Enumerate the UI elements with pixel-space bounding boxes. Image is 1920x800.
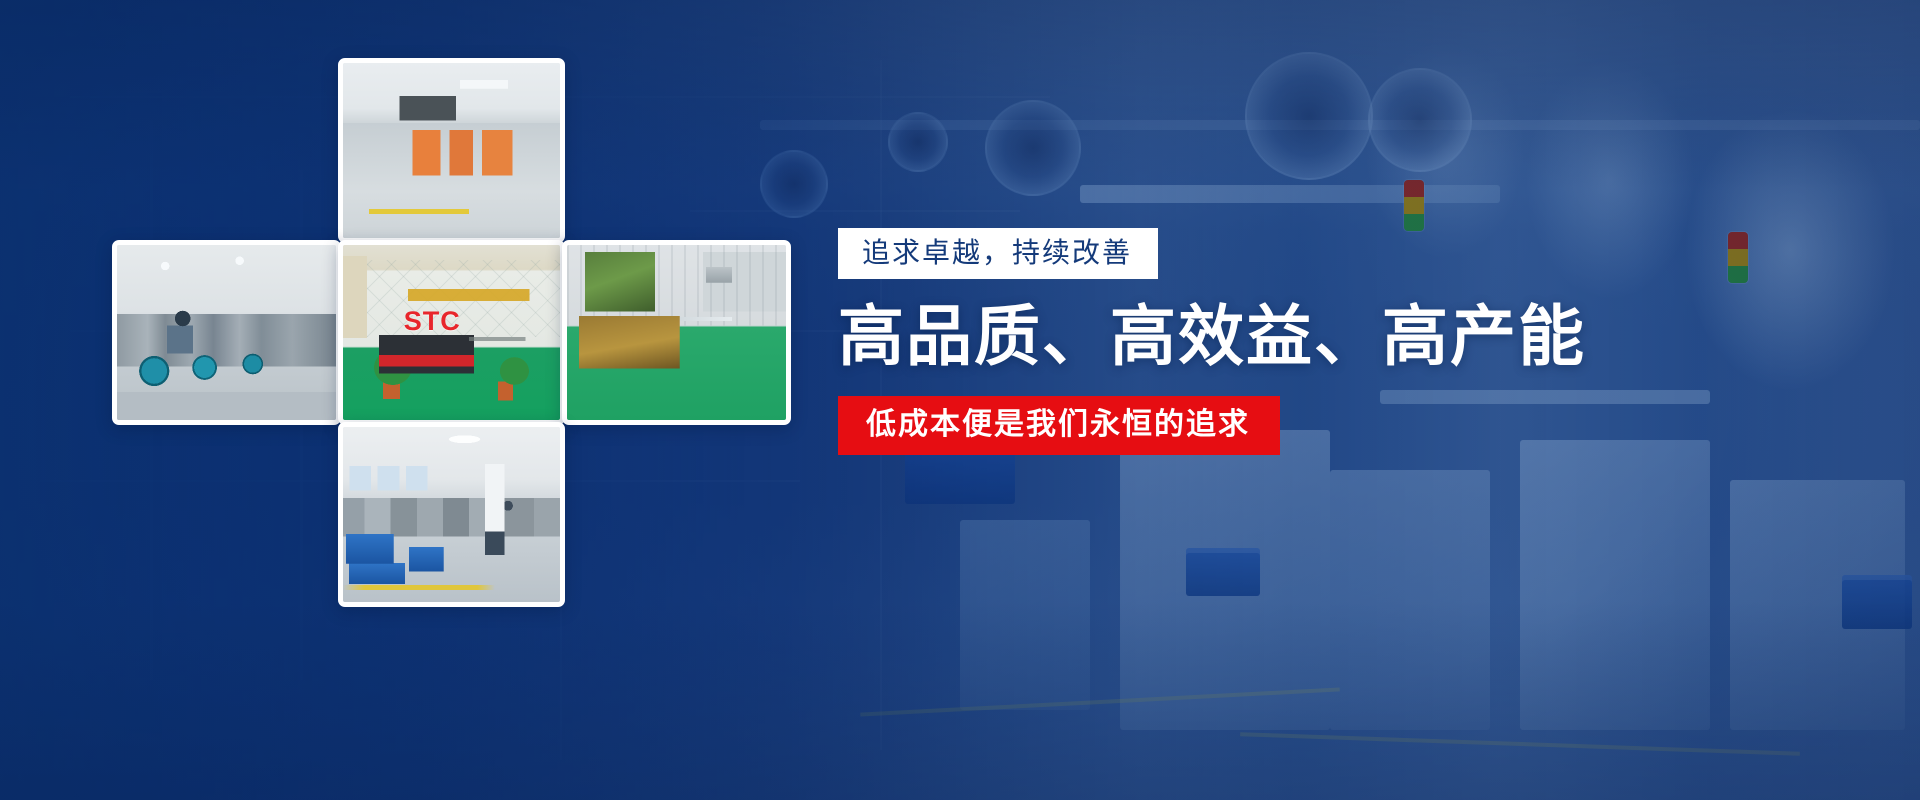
photo-collage: STC: [112, 58, 792, 598]
hero-banner: STC 追求卓越，持续改善 高品质、高效益、高产能 低成本便是我们永恒的追求: [0, 0, 1920, 800]
banner-ribbon-tagline: 低成本便是我们永恒的追求: [838, 396, 1280, 455]
banner-headline: 高品质、高效益、高产能: [838, 299, 1838, 374]
collage-photo-right[interactable]: [562, 240, 791, 425]
collage-photo-bottom[interactable]: [338, 422, 565, 607]
stc-reception-photo: STC: [343, 245, 560, 420]
production-aisle-photo: [343, 427, 560, 602]
collage-photo-left[interactable]: [112, 240, 341, 425]
machining-equipment-photo: [567, 245, 786, 420]
collage-photo-center[interactable]: STC: [338, 240, 565, 425]
winding-machines-photo: [117, 245, 336, 420]
office-cubicles-photo: [343, 63, 560, 238]
banner-copy-block: 追求卓越，持续改善 高品质、高效益、高产能 低成本便是我们永恒的追求: [838, 228, 1838, 455]
stc-logo-text: STC: [404, 308, 461, 335]
collage-photo-top[interactable]: [338, 58, 565, 243]
banner-eyebrow-label: 追求卓越，持续改善: [838, 228, 1158, 279]
